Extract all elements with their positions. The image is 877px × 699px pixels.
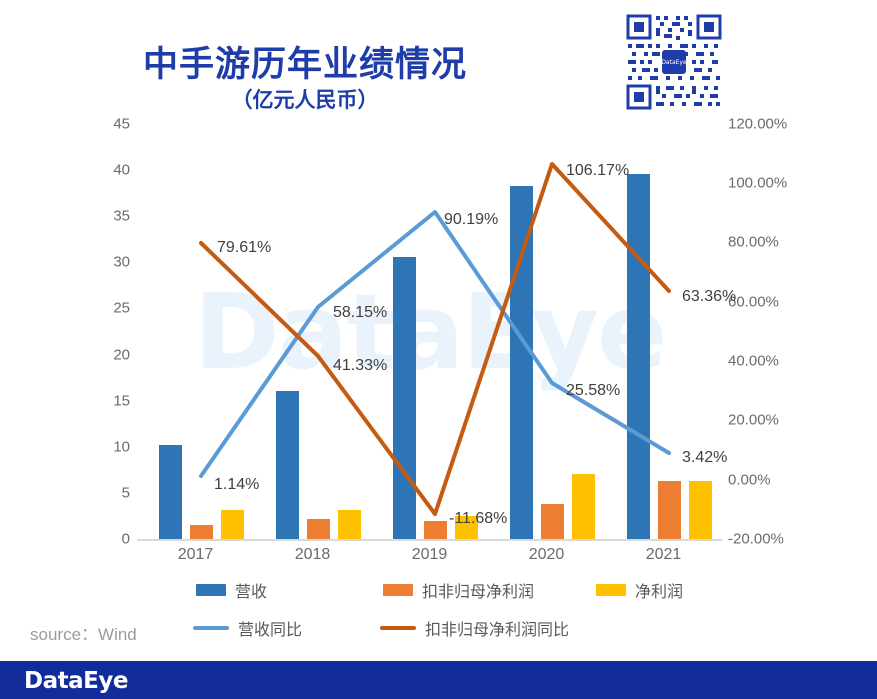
data-label--11-68: -11.68% bbox=[449, 510, 507, 528]
y-axis-right-tick: 20.00% bbox=[728, 412, 808, 429]
chart-header: 中手游历年业绩情况 （亿元人民币） bbox=[0, 0, 877, 118]
legend-label-adjusted-profit: 扣非归母净利润 bbox=[422, 578, 534, 602]
legend-label-revenue: 营收 bbox=[235, 578, 267, 602]
data-label-58-15: 58.15% bbox=[333, 304, 387, 322]
data-label-63-36: 63.36% bbox=[682, 288, 736, 306]
x-axis: 2017 2018 2019 2020 2021 bbox=[137, 546, 722, 574]
plot-area: DataEye bbox=[137, 124, 722, 539]
y-axis-right: 120.00% 100.00% 80.00% 60.00% 40.00% 20.… bbox=[728, 110, 808, 555]
page-title: 中手游历年业绩情况 bbox=[0, 36, 610, 87]
legend-item-adjusted-profit-yoy[interactable]: 扣非归母净利润同比 bbox=[380, 616, 569, 640]
data-label-90-19: 90.19% bbox=[444, 211, 498, 229]
x-axis-tick-2021: 2021 bbox=[605, 546, 722, 564]
y-axis-right-tick: 100.00% bbox=[728, 175, 808, 192]
y-axis-left-tick: 35 bbox=[92, 208, 130, 225]
data-label-79-61: 79.61% bbox=[217, 239, 271, 257]
legend-swatch-revenue-yoy-icon bbox=[193, 626, 229, 630]
y-axis-right-tick: -20.00% bbox=[728, 531, 808, 548]
legend-swatch-net-profit-icon bbox=[596, 584, 626, 596]
y-axis-left-tick: 5 bbox=[92, 485, 130, 502]
footer-bar: DataEye bbox=[0, 661, 877, 699]
source-note: source：Wind bbox=[30, 620, 137, 645]
data-label-106-17: 106.17% bbox=[566, 162, 629, 180]
data-label-3-42: 3.42% bbox=[682, 449, 727, 467]
legend-swatch-revenue-icon bbox=[196, 584, 226, 596]
y-axis-right-tick: 80.00% bbox=[728, 234, 808, 251]
legend-row-bars: 营收 扣非归母净利润 净利润 bbox=[0, 578, 877, 604]
dataeye-logo: DataEye bbox=[24, 668, 128, 694]
legend-label-revenue-yoy: 营收同比 bbox=[238, 616, 302, 640]
qr-code-icon[interactable]: DataEye bbox=[622, 10, 726, 114]
y-axis-left-tick: 40 bbox=[92, 162, 130, 179]
legend-swatch-adjusted-profit-icon bbox=[383, 584, 413, 596]
y-axis-left-tick: 25 bbox=[92, 300, 130, 317]
x-axis-tick-2020: 2020 bbox=[488, 546, 605, 564]
y-axis-left: 45 40 35 30 25 20 15 10 5 0 bbox=[88, 110, 130, 555]
chart-container: 45 40 35 30 25 20 15 10 5 0 120.00% 100.… bbox=[0, 110, 877, 555]
y-axis-right-tick: 40.00% bbox=[728, 353, 808, 370]
data-label-41-33: 41.33% bbox=[333, 357, 387, 375]
y-axis-left-tick: 30 bbox=[92, 254, 130, 271]
svg-text:DataEye: DataEye bbox=[661, 59, 687, 66]
y-axis-left-tick: 45 bbox=[92, 116, 130, 133]
x-axis-tick-2018: 2018 bbox=[254, 546, 371, 564]
x-axis-tick-2019: 2019 bbox=[371, 546, 488, 564]
y-axis-right-tick: 60.00% bbox=[728, 294, 808, 311]
y-axis-left-tick: 10 bbox=[92, 439, 130, 456]
y-axis-left-tick: 15 bbox=[92, 393, 130, 410]
legend-swatch-adjusted-profit-yoy-icon bbox=[380, 626, 416, 630]
legend-item-adjusted-profit[interactable]: 扣非归母净利润 bbox=[383, 578, 534, 602]
y-axis-left-tick: 20 bbox=[92, 347, 130, 364]
data-label-25-58: 25.58% bbox=[566, 382, 620, 400]
chart-page: 中手游历年业绩情况 （亿元人民币） bbox=[0, 0, 877, 699]
legend-item-revenue[interactable]: 营收 bbox=[196, 578, 267, 602]
data-label-1-14: 1.14% bbox=[214, 476, 259, 494]
x-axis-line bbox=[137, 539, 722, 541]
line-adjusted-profit-yoy bbox=[201, 164, 669, 514]
y-axis-right-tick: 120.00% bbox=[728, 116, 808, 133]
legend-label-net-profit: 净利润 bbox=[635, 578, 683, 602]
x-axis-tick-2017: 2017 bbox=[137, 546, 254, 564]
y-axis-right-tick: 0.00% bbox=[728, 472, 808, 489]
y-axis-left-tick: 0 bbox=[92, 531, 130, 548]
legend-item-revenue-yoy[interactable]: 营收同比 bbox=[193, 616, 302, 640]
legend-item-net-profit[interactable]: 净利润 bbox=[596, 578, 683, 602]
legend-label-adjusted-profit-yoy: 扣非归母净利润同比 bbox=[425, 616, 569, 640]
